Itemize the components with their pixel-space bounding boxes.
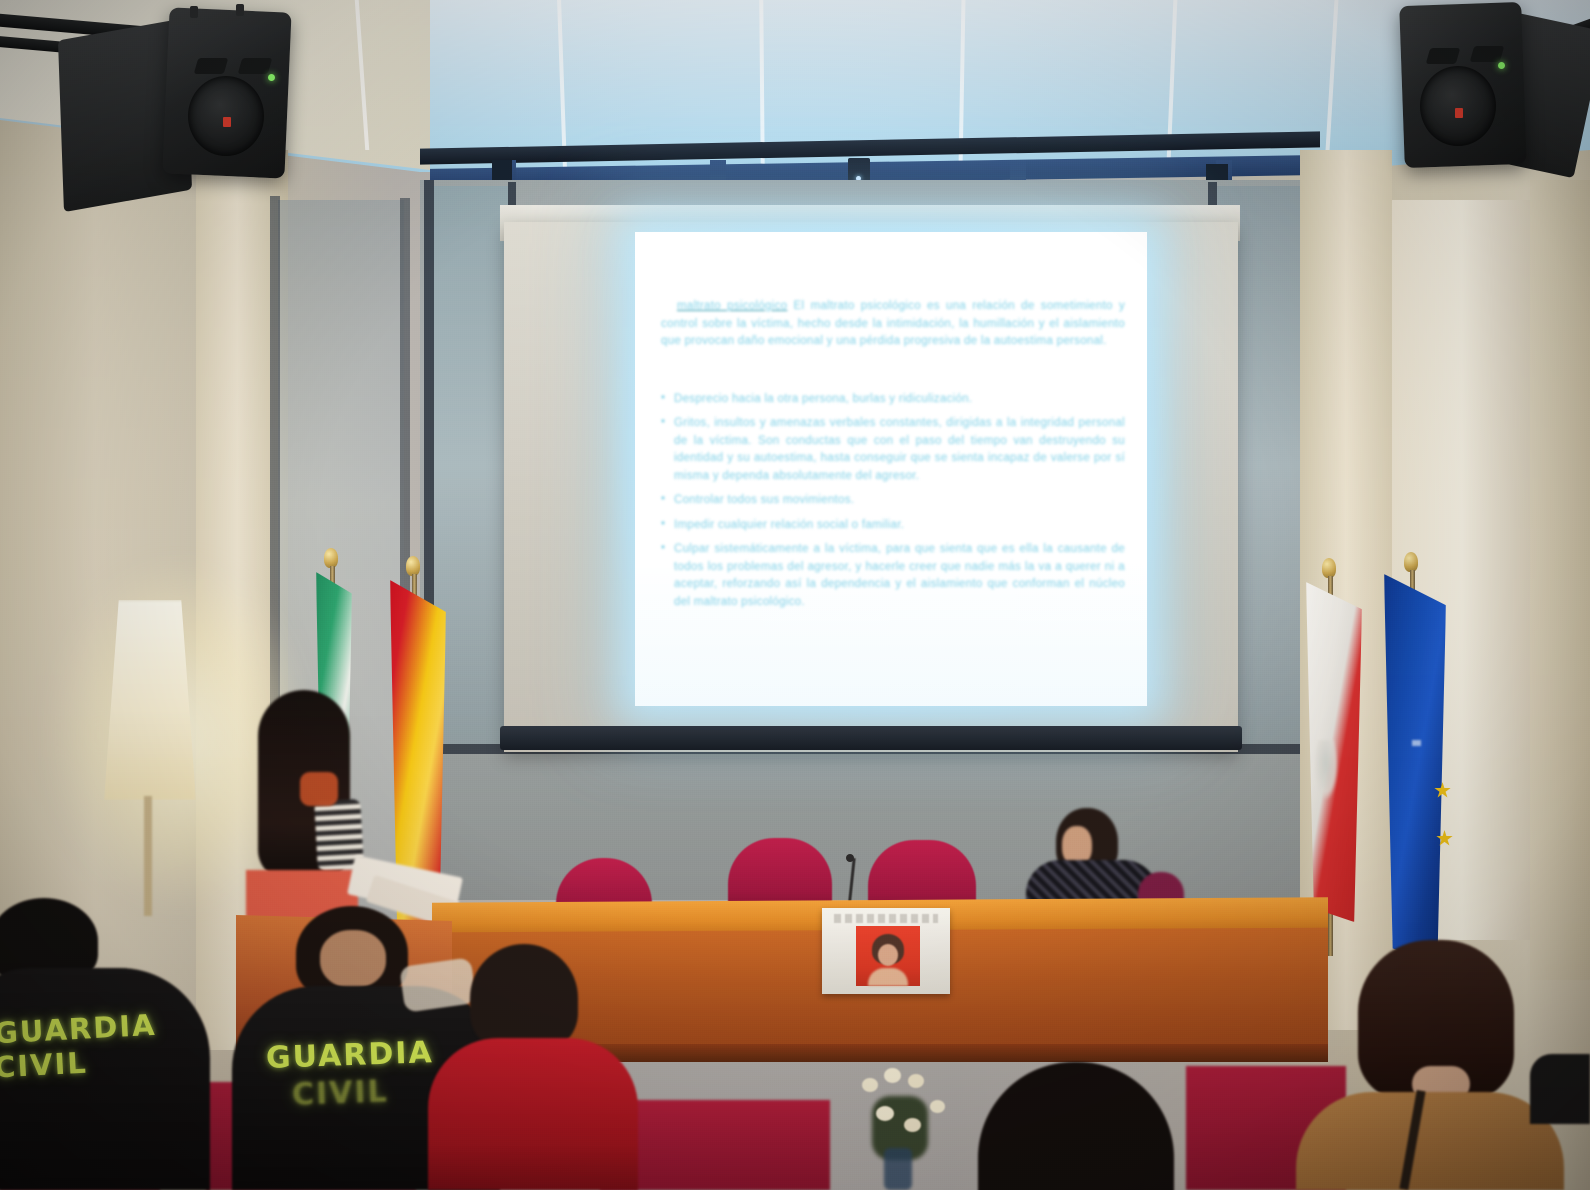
flag-finial-icon [1322, 558, 1336, 578]
flower-vase [884, 1148, 912, 1190]
slide-bullet: Impedir cualquier relación social o fami… [661, 517, 1125, 535]
speaker-handle-icon [236, 4, 244, 16]
floor-lamp-stem [144, 796, 152, 916]
speaker-port-icon [1426, 48, 1461, 64]
portrait-face [878, 944, 898, 966]
jacket-text-civil-1: CIVIL [0, 1046, 89, 1085]
jacket-text-civil-2: CIVIL [291, 1074, 389, 1112]
speaker-power-led-icon [268, 74, 275, 81]
slide-spacer [661, 357, 1125, 391]
speaker-handle-icon [190, 6, 198, 18]
auditorium-photo: maltrato psicológico El maltrato psicoló… [0, 0, 1590, 1190]
audience-tan-top-body [1296, 1092, 1564, 1190]
eu-flag-highlight [1412, 740, 1421, 746]
flower-blossom [876, 1106, 894, 1121]
slide-bullet: Controlar todos sus movimientos. [661, 492, 1125, 510]
speaker-power-led-icon [1498, 62, 1505, 69]
speaker-port-icon [1470, 46, 1505, 62]
slide-content: maltrato psicológico El maltrato psicoló… [661, 298, 1125, 618]
slide-bullet: Desprecio hacia la otra persona, burlas … [661, 391, 1125, 409]
eu-flag [1384, 574, 1446, 964]
slide-underlined-phrase: maltrato psicológico [677, 300, 787, 312]
speaker-brand-logo-icon [223, 117, 231, 127]
flower-blossom [930, 1100, 945, 1113]
speaker-port-icon [194, 58, 229, 74]
right-wall-edge [1530, 180, 1590, 980]
speaker-brand-logo-icon [1455, 108, 1463, 118]
speaker-woofer-icon [1420, 66, 1496, 146]
audience-red-top-head [470, 944, 578, 1052]
flower-blossom [908, 1074, 924, 1088]
flag-finial-icon [324, 548, 338, 568]
microphone-icon [846, 854, 854, 862]
portrait-shoulders [868, 968, 908, 986]
slide-lead-paragraph: maltrato psicológico El maltrato psicoló… [661, 298, 1125, 351]
audience-red-top-body [428, 1038, 638, 1190]
slide-bullet: Gritos, insultos y amenazas verbales con… [661, 415, 1125, 485]
jacket-text-guardia-2: GUARDIA [265, 1035, 434, 1076]
framed-photo-caption [834, 914, 938, 923]
screen-weight-bar [500, 726, 1242, 750]
regional-flag-emblem-icon [1314, 740, 1338, 800]
flower-blossom [884, 1068, 901, 1083]
slide-bullet-list: Desprecio hacia la otra persona, burlas … [661, 391, 1125, 612]
flag-finial-icon [406, 556, 420, 576]
audience-guardia-civil-2-face [320, 930, 386, 988]
flower-blossom [904, 1118, 921, 1132]
floor-lamp-shade [104, 600, 196, 800]
projected-slide: maltrato psicológico El maltrato psicoló… [635, 232, 1147, 706]
speaker-port-icon [238, 58, 273, 74]
audience-far-right-shoulder [1530, 1054, 1590, 1124]
standing-presenter-scarf [300, 772, 338, 806]
flower-blossom [862, 1078, 878, 1092]
flag-finial-icon [1404, 552, 1418, 572]
speaker-woofer-icon [188, 76, 264, 156]
slide-bullet: Culpar sistemáticamente a la víctima, pa… [661, 541, 1125, 611]
